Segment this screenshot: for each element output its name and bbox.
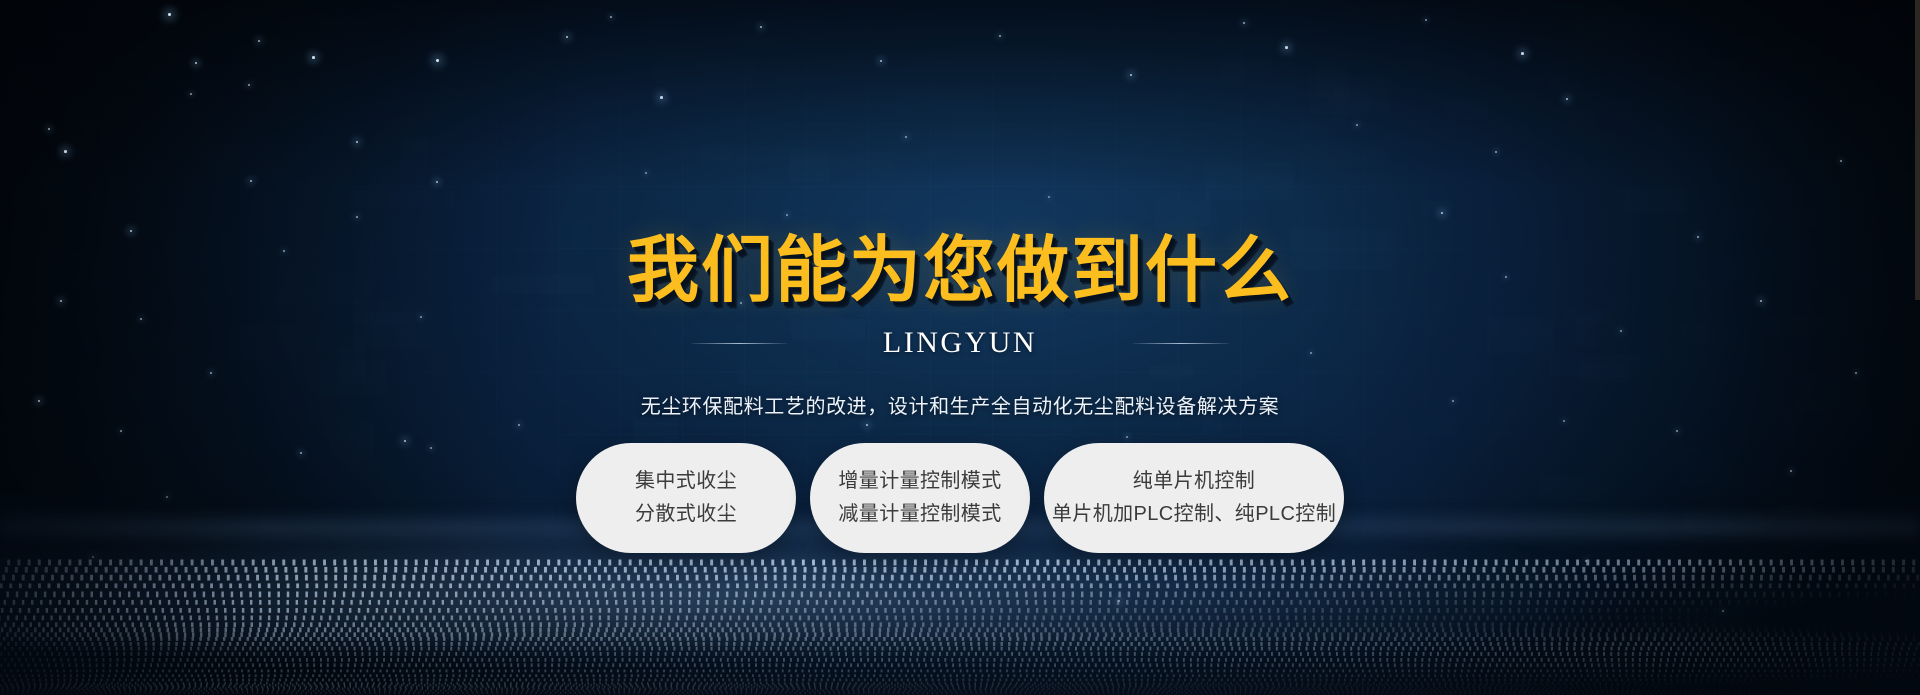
feature-card-metering-control-mode[interactable]: 增量计量控制模式 减量计量控制模式 [810,443,1030,553]
card-line: 增量计量控制模式 [838,469,1001,493]
page-title: 我们能为您做到什么 [0,233,1920,309]
card-line: 集中式收尘 [635,469,737,493]
feature-card-controller-type[interactable]: 纯单片机控制 单片机加PLC控制、纯PLC控制 [1044,443,1344,553]
banner-stage: 我们能为您做到什么 LINGYUN 无尘环保配料工艺的改进，设计和生产全自动化无… [0,0,1920,695]
card-line: 单片机加PLC控制、纯PLC控制 [1052,502,1336,526]
subtitle-row: LINGYUN [0,326,1920,360]
card-line: 纯单片机控制 [1133,469,1255,493]
left-rule-decoration [691,343,787,344]
feature-card-list: 集中式收尘 分散式收尘 增量计量控制模式 减量计量控制模式 纯单片机控制 单片机… [0,443,1920,553]
right-rule-decoration [1133,343,1229,344]
banner-content: 我们能为您做到什么 LINGYUN 无尘环保配料工艺的改进，设计和生产全自动化无… [0,0,1920,695]
card-line: 分散式收尘 [635,502,737,526]
subtitle-english: LINGYUN [883,326,1037,360]
feature-card-dust-collection[interactable]: 集中式收尘 分散式收尘 [576,443,796,553]
page-description: 无尘环保配料工艺的改进，设计和生产全自动化无尘配料设备解决方案 [0,392,1920,422]
card-line: 减量计量控制模式 [838,502,1001,526]
